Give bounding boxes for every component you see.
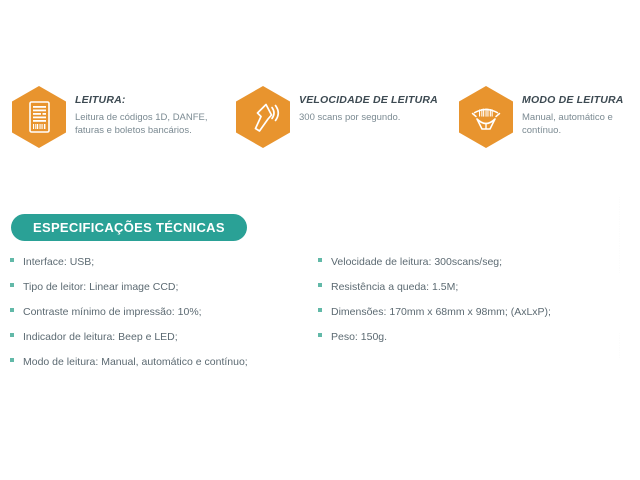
barcode-scanner-gun-icon: [236, 86, 290, 148]
spec-column-right: Velocidade de leitura: 300scans/seg; Res…: [318, 256, 628, 356]
spec-text: Tipo de leitor: Linear image CCD;: [23, 281, 178, 294]
list-item: Contraste mínimo de impressão: 10%;: [10, 306, 310, 319]
feature-title: VELOCIDADE DE LEITURA: [299, 95, 438, 107]
especificacoes-tecnicas-banner: ESPECIFICAÇÕES TÉCNICAS: [11, 214, 247, 241]
spec-text: Modo de leitura: Manual, automático e co…: [23, 356, 248, 369]
feature-text-block: LEITURA: Leitura de códigos 1D, DANFE, f…: [75, 86, 227, 138]
list-item: Resistência a queda: 1.5M;: [318, 281, 628, 294]
spec-text: Velocidade de leitura: 300scans/seg;: [331, 256, 502, 269]
bullet-icon: [318, 283, 322, 287]
spec-text: Resistência a queda: 1.5M;: [331, 281, 458, 294]
feature-title: LEITURA:: [75, 95, 227, 107]
list-item: Tipo de leitor: Linear image CCD;: [10, 281, 310, 294]
bullet-icon: [10, 333, 14, 337]
vertical-watermark-bottom: ···············: [617, 333, 622, 358]
list-item: Dimensões: 170mm x 68mm x 98mm; (AxLxP);: [318, 306, 628, 319]
list-item: Indicador de leitura: Beep e LED;: [10, 331, 310, 344]
document-barcode-icon: [12, 86, 66, 148]
bullet-icon: [10, 283, 14, 287]
bullet-icon: [10, 308, 14, 312]
feature-leitura: LEITURA: Leitura de códigos 1D, DANFE, f…: [12, 86, 227, 148]
feature-highlights-row: LEITURA: Leitura de códigos 1D, DANFE, f…: [0, 86, 640, 166]
bullet-icon: [318, 308, 322, 312]
spec-text: Interface: USB;: [23, 256, 94, 269]
spec-column-left: Interface: USB; Tipo de leitor: Linear i…: [10, 256, 310, 381]
spec-text: Dimensões: 170mm x 68mm x 98mm; (AxLxP);: [331, 306, 551, 319]
bullet-icon: [10, 358, 14, 362]
scan-beam-barcode-icon: [459, 86, 513, 148]
feature-velocidade-de-leitura: VELOCIDADE DE LEITURA 300 scans por segu…: [236, 86, 454, 148]
list-item: Modo de leitura: Manual, automático e co…: [10, 356, 310, 369]
feature-modo-de-leitura: MODO DE LEITURA Manual, automático e con…: [459, 86, 634, 148]
spec-text: Contraste mínimo de impressão: 10%;: [23, 306, 202, 319]
list-item: Velocidade de leitura: 300scans/seg;: [318, 256, 628, 269]
feature-text-block: VELOCIDADE DE LEITURA 300 scans por segu…: [299, 86, 438, 124]
bullet-icon: [10, 258, 14, 262]
feature-description: Leitura de códigos 1D, DANFE, faturas e …: [75, 111, 227, 139]
bullet-icon: [318, 333, 322, 337]
vertical-watermark-top: ········································…: [617, 197, 622, 273]
feature-description: Manual, automático e contínuo.: [522, 111, 634, 139]
list-item: Peso: 150g.: [318, 331, 628, 344]
spec-text: Peso: 150g.: [331, 331, 387, 344]
feature-title: MODO DE LEITURA: [522, 95, 634, 107]
feature-description: 300 scans por segundo.: [299, 111, 438, 125]
spec-text: Indicador de leitura: Beep e LED;: [23, 331, 178, 344]
spec-banner-label: ESPECIFICAÇÕES TÉCNICAS: [33, 220, 225, 235]
list-item: Interface: USB;: [10, 256, 310, 269]
bullet-icon: [318, 258, 322, 262]
feature-text-block: MODO DE LEITURA Manual, automático e con…: [522, 86, 634, 138]
